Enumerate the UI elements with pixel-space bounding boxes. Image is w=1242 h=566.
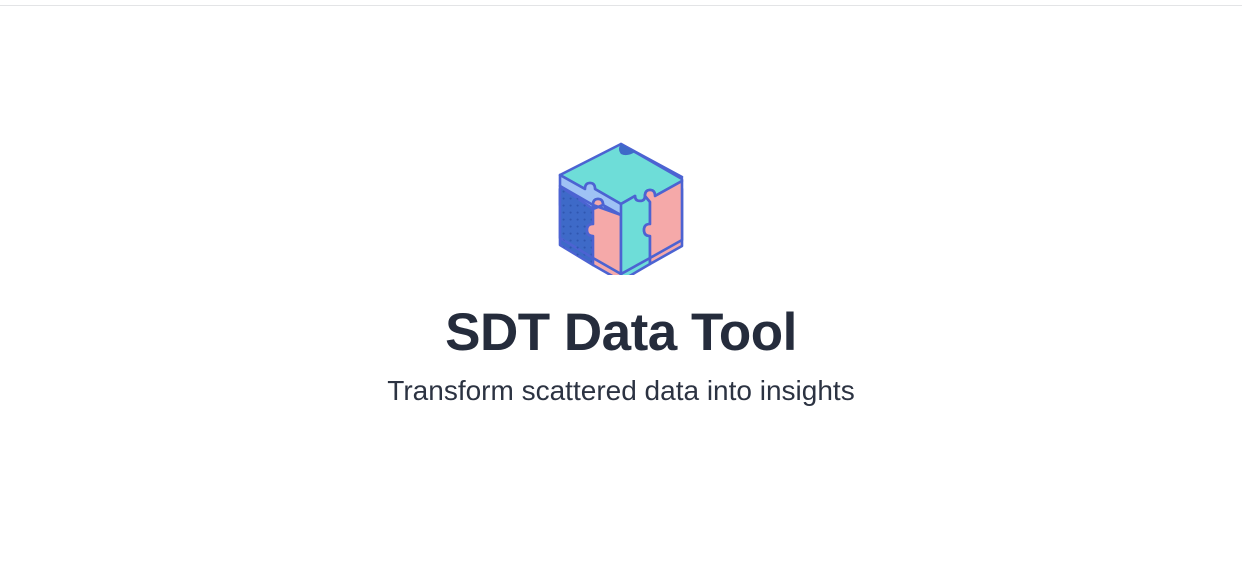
puzzle-cube-logo <box>555 141 687 275</box>
page-tagline: Transform scattered data into insights <box>387 374 854 408</box>
splash-screen: SDT Data Tool Transform scattered data i… <box>0 0 1242 566</box>
puzzle-cube-icon <box>555 141 687 275</box>
page-title: SDT Data Tool <box>445 305 797 361</box>
